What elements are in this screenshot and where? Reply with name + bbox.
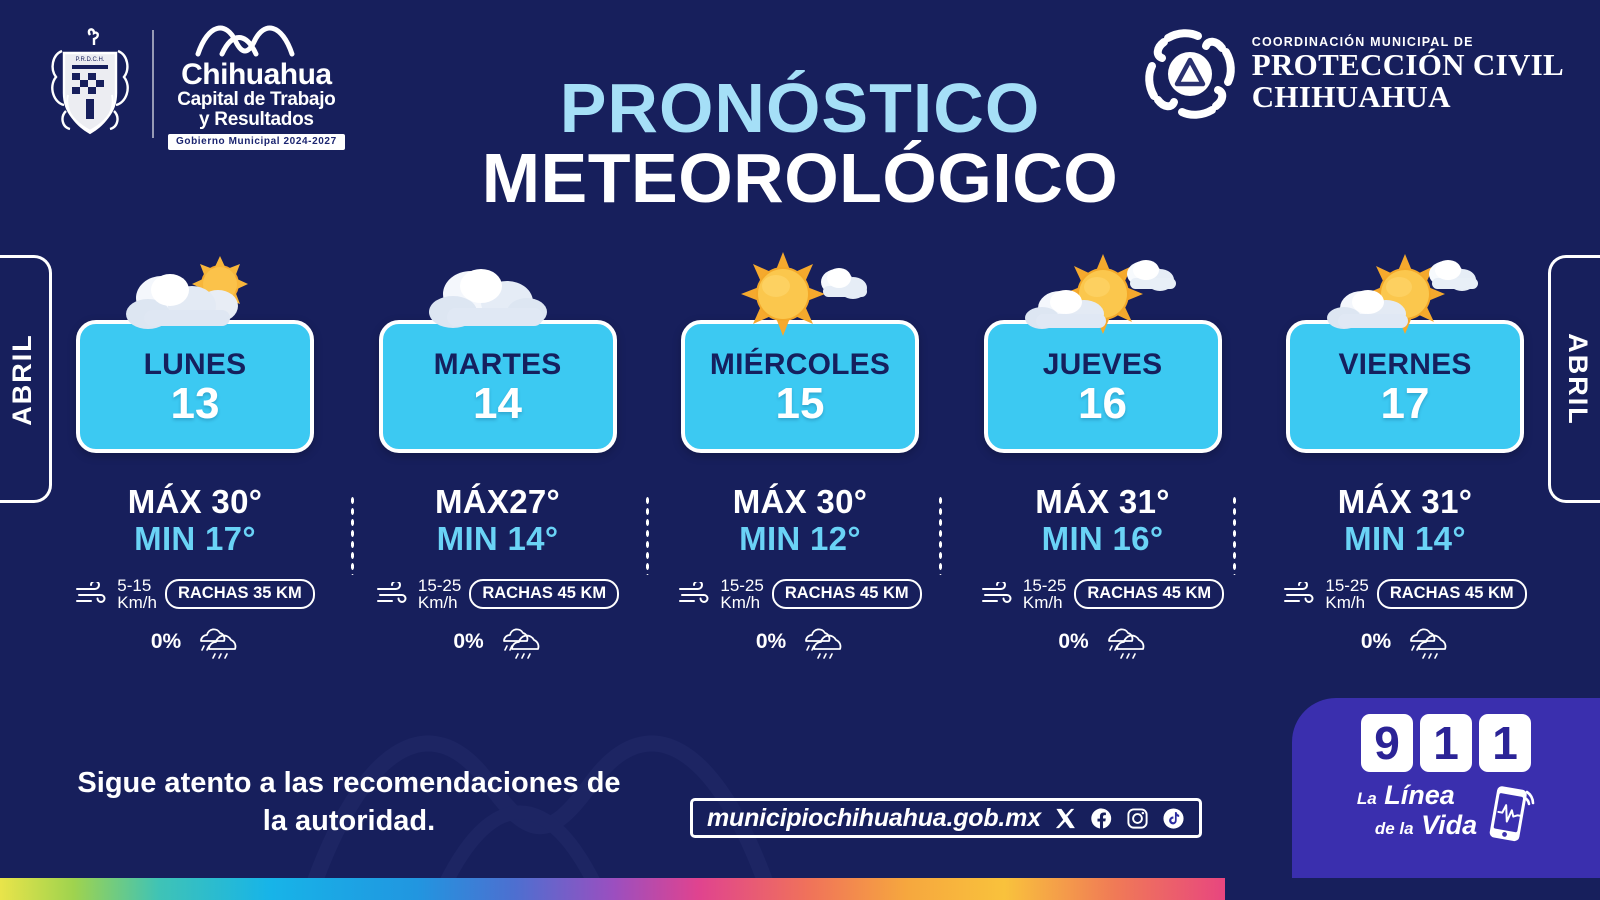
wind-row: 15-25 Km/h RACHAS 45 KM <box>678 577 921 611</box>
gusts-badge: RACHAS 45 KM <box>469 579 619 609</box>
wind-speed-unit: Km/h <box>1023 594 1066 611</box>
page-title: PRONÓSTICO METEOROLÓGICO <box>0 74 1600 213</box>
title-line-2: METEOROLÓGICO <box>0 143 1600 213</box>
rain-row: 0% <box>756 625 844 659</box>
min-temp: MIN 16° <box>1035 521 1170 558</box>
digit-1-first: 1 <box>1420 714 1472 772</box>
wind-speed: 15-25 Km/h <box>1023 577 1066 611</box>
phone-pulse-icon <box>1485 784 1535 846</box>
forecast-day-card: MARTES 14 MÁX27° MIN 14° 15-25 Km/h <box>373 250 623 659</box>
rain-probability: 0% <box>1361 630 1391 654</box>
temperatures: MÁX 31° MIN 14° <box>1338 484 1473 558</box>
day-name: VIERNES <box>1338 350 1471 380</box>
temperatures: MÁX 30° MIN 17° <box>128 484 263 558</box>
wind-speed-unit: Km/h <box>418 594 461 611</box>
wind-speed: 15-25 Km/h <box>1325 577 1368 611</box>
forecast-day-card: VIERNES 17 MÁX 31° MIN 14° 15-25 Km/h <box>1280 250 1530 659</box>
wind-speed-value: 15-25 <box>1325 577 1368 594</box>
chihuahua-mountains-icon <box>192 18 320 58</box>
svg-text:P.R.D.C.H.: P.R.D.C.H. <box>76 57 105 63</box>
min-temp: MIN 17° <box>128 521 263 558</box>
rain-row: 0% <box>1361 625 1449 659</box>
rain-probability: 0% <box>453 630 483 654</box>
temperatures: MÁX27° MIN 14° <box>435 484 560 558</box>
digit-1-second: 1 <box>1479 714 1531 772</box>
wind-speed-value: 15-25 <box>418 577 461 594</box>
forecast-poster: P.R.D.C.H. Chihuahua Capital de Trabajo … <box>0 0 1600 900</box>
wind-speed-value: 15-25 <box>720 577 763 594</box>
forecast-day-card: LUNES 13 MÁX 30° MIN 17° 5-15 Km/h <box>70 250 320 659</box>
tagline-dela: de la <box>1375 819 1414 838</box>
gusts-badge: RACHAS 35 KM <box>165 579 315 609</box>
temperatures: MÁX 31° MIN 16° <box>1035 484 1170 558</box>
day-number: 16 <box>1078 382 1127 427</box>
wind-icon <box>75 582 109 606</box>
advice-text: Sigue atento a las recomendaciones de la… <box>64 765 634 840</box>
day-card[interactable]: VIERNES 17 <box>1286 320 1524 453</box>
wind-icon <box>678 582 712 606</box>
rain-cloud-icon <box>1099 625 1147 659</box>
wind-speed-value: 15-25 <box>1023 577 1066 594</box>
wind-speed-unit: Km/h <box>1325 594 1368 611</box>
min-temp: MIN 14° <box>435 521 560 558</box>
wind-icon <box>1283 582 1317 606</box>
wind-icon <box>981 582 1015 606</box>
month-tab-left: ABRIL <box>0 255 52 503</box>
wind-speed: 15-25 Km/h <box>720 577 763 611</box>
max-temp: MÁX 31° <box>1035 484 1170 521</box>
rain-cloud-icon <box>191 625 239 659</box>
day-name: MIÉRCOLES <box>710 350 890 380</box>
temperatures: MÁX 30° MIN 12° <box>733 484 868 558</box>
emergency-tagline: La Línea de la Vida <box>1357 782 1535 846</box>
wind-speed-unit: Km/h <box>117 594 157 611</box>
day-card[interactable]: LUNES 13 <box>76 320 314 453</box>
gusts-badge: RACHAS 45 KM <box>772 579 922 609</box>
wind-speed: 5-15 Km/h <box>117 577 157 611</box>
day-name: MARTES <box>434 350 562 380</box>
instagram-icon[interactable] <box>1126 807 1149 830</box>
rain-row: 0% <box>453 625 541 659</box>
wind-speed: 15-25 Km/h <box>418 577 461 611</box>
wind-row: 15-25 Km/h RACHAS 45 KM <box>981 577 1224 611</box>
day-name: LUNES <box>144 350 247 380</box>
rain-probability: 0% <box>1058 630 1088 654</box>
rain-row: 0% <box>151 625 239 659</box>
day-number: 17 <box>1381 382 1430 427</box>
color-gradient-strip <box>0 878 1225 900</box>
forecast-days-row: LUNES 13 MÁX 30° MIN 17° 5-15 Km/h <box>70 250 1530 659</box>
website-url[interactable]: municipiochihuahua.gob.mx <box>707 804 1041 833</box>
emergency-911-panel: 9 1 1 La Línea de la Vida <box>1292 698 1600 878</box>
day-name: JUEVES <box>1043 350 1163 380</box>
max-temp: MÁX 30° <box>128 484 263 521</box>
day-card[interactable]: MIÉRCOLES 15 <box>681 320 919 453</box>
title-line-1: PRONÓSTICO <box>0 74 1600 143</box>
forecast-day-card: JUEVES 16 MÁX 31° MIN 16° 15-25 Km/h <box>978 250 1228 659</box>
tagline-vida: Vida <box>1421 810 1477 840</box>
wind-row: 15-25 Km/h RACHAS 45 KM <box>1283 577 1526 611</box>
rain-cloud-icon <box>494 625 542 659</box>
min-temp: MIN 14° <box>1338 521 1473 558</box>
tiktok-icon[interactable] <box>1162 807 1185 830</box>
max-temp: MÁX 30° <box>733 484 868 521</box>
day-number: 15 <box>776 382 825 427</box>
day-card[interactable]: MARTES 14 <box>379 320 617 453</box>
rain-cloud-icon <box>1401 625 1449 659</box>
month-label-left: ABRIL <box>7 333 38 426</box>
month-tab-right: ABRIL <box>1548 255 1600 503</box>
day-number: 13 <box>171 382 220 427</box>
forecast-day-card: MIÉRCOLES 15 MÁX 30° MIN 12° 15-25 Km/h <box>675 250 925 659</box>
rain-probability: 0% <box>756 630 786 654</box>
tagline-la: La <box>1357 789 1377 808</box>
wind-icon <box>376 582 410 606</box>
tagline-linea: Línea <box>1384 780 1455 810</box>
day-card[interactable]: JUEVES 16 <box>984 320 1222 453</box>
facebook-icon[interactable] <box>1090 807 1113 830</box>
max-temp: MÁX27° <box>435 484 560 521</box>
wind-speed-value: 5-15 <box>117 577 157 594</box>
website-bar[interactable]: municipiochihuahua.gob.mx <box>690 798 1202 838</box>
emergency-number: 9 1 1 <box>1361 714 1531 772</box>
month-label-right: ABRIL <box>1562 333 1593 426</box>
wind-row: 15-25 Km/h RACHAS 45 KM <box>376 577 619 611</box>
gusts-badge: RACHAS 45 KM <box>1377 579 1527 609</box>
rain-cloud-icon <box>796 625 844 659</box>
rain-row: 0% <box>1058 625 1146 659</box>
day-number: 14 <box>473 382 522 427</box>
x-icon[interactable] <box>1054 807 1077 830</box>
wind-speed-unit: Km/h <box>720 594 763 611</box>
wind-row: 5-15 Km/h RACHAS 35 KM <box>75 577 314 611</box>
gusts-badge: RACHAS 45 KM <box>1074 579 1224 609</box>
min-temp: MIN 12° <box>733 521 868 558</box>
digit-9: 9 <box>1361 714 1413 772</box>
max-temp: MÁX 31° <box>1338 484 1473 521</box>
tagline-line-1: La Línea <box>1357 782 1477 809</box>
tagline-line-2: de la Vida <box>1375 812 1477 839</box>
rain-probability: 0% <box>151 630 181 654</box>
